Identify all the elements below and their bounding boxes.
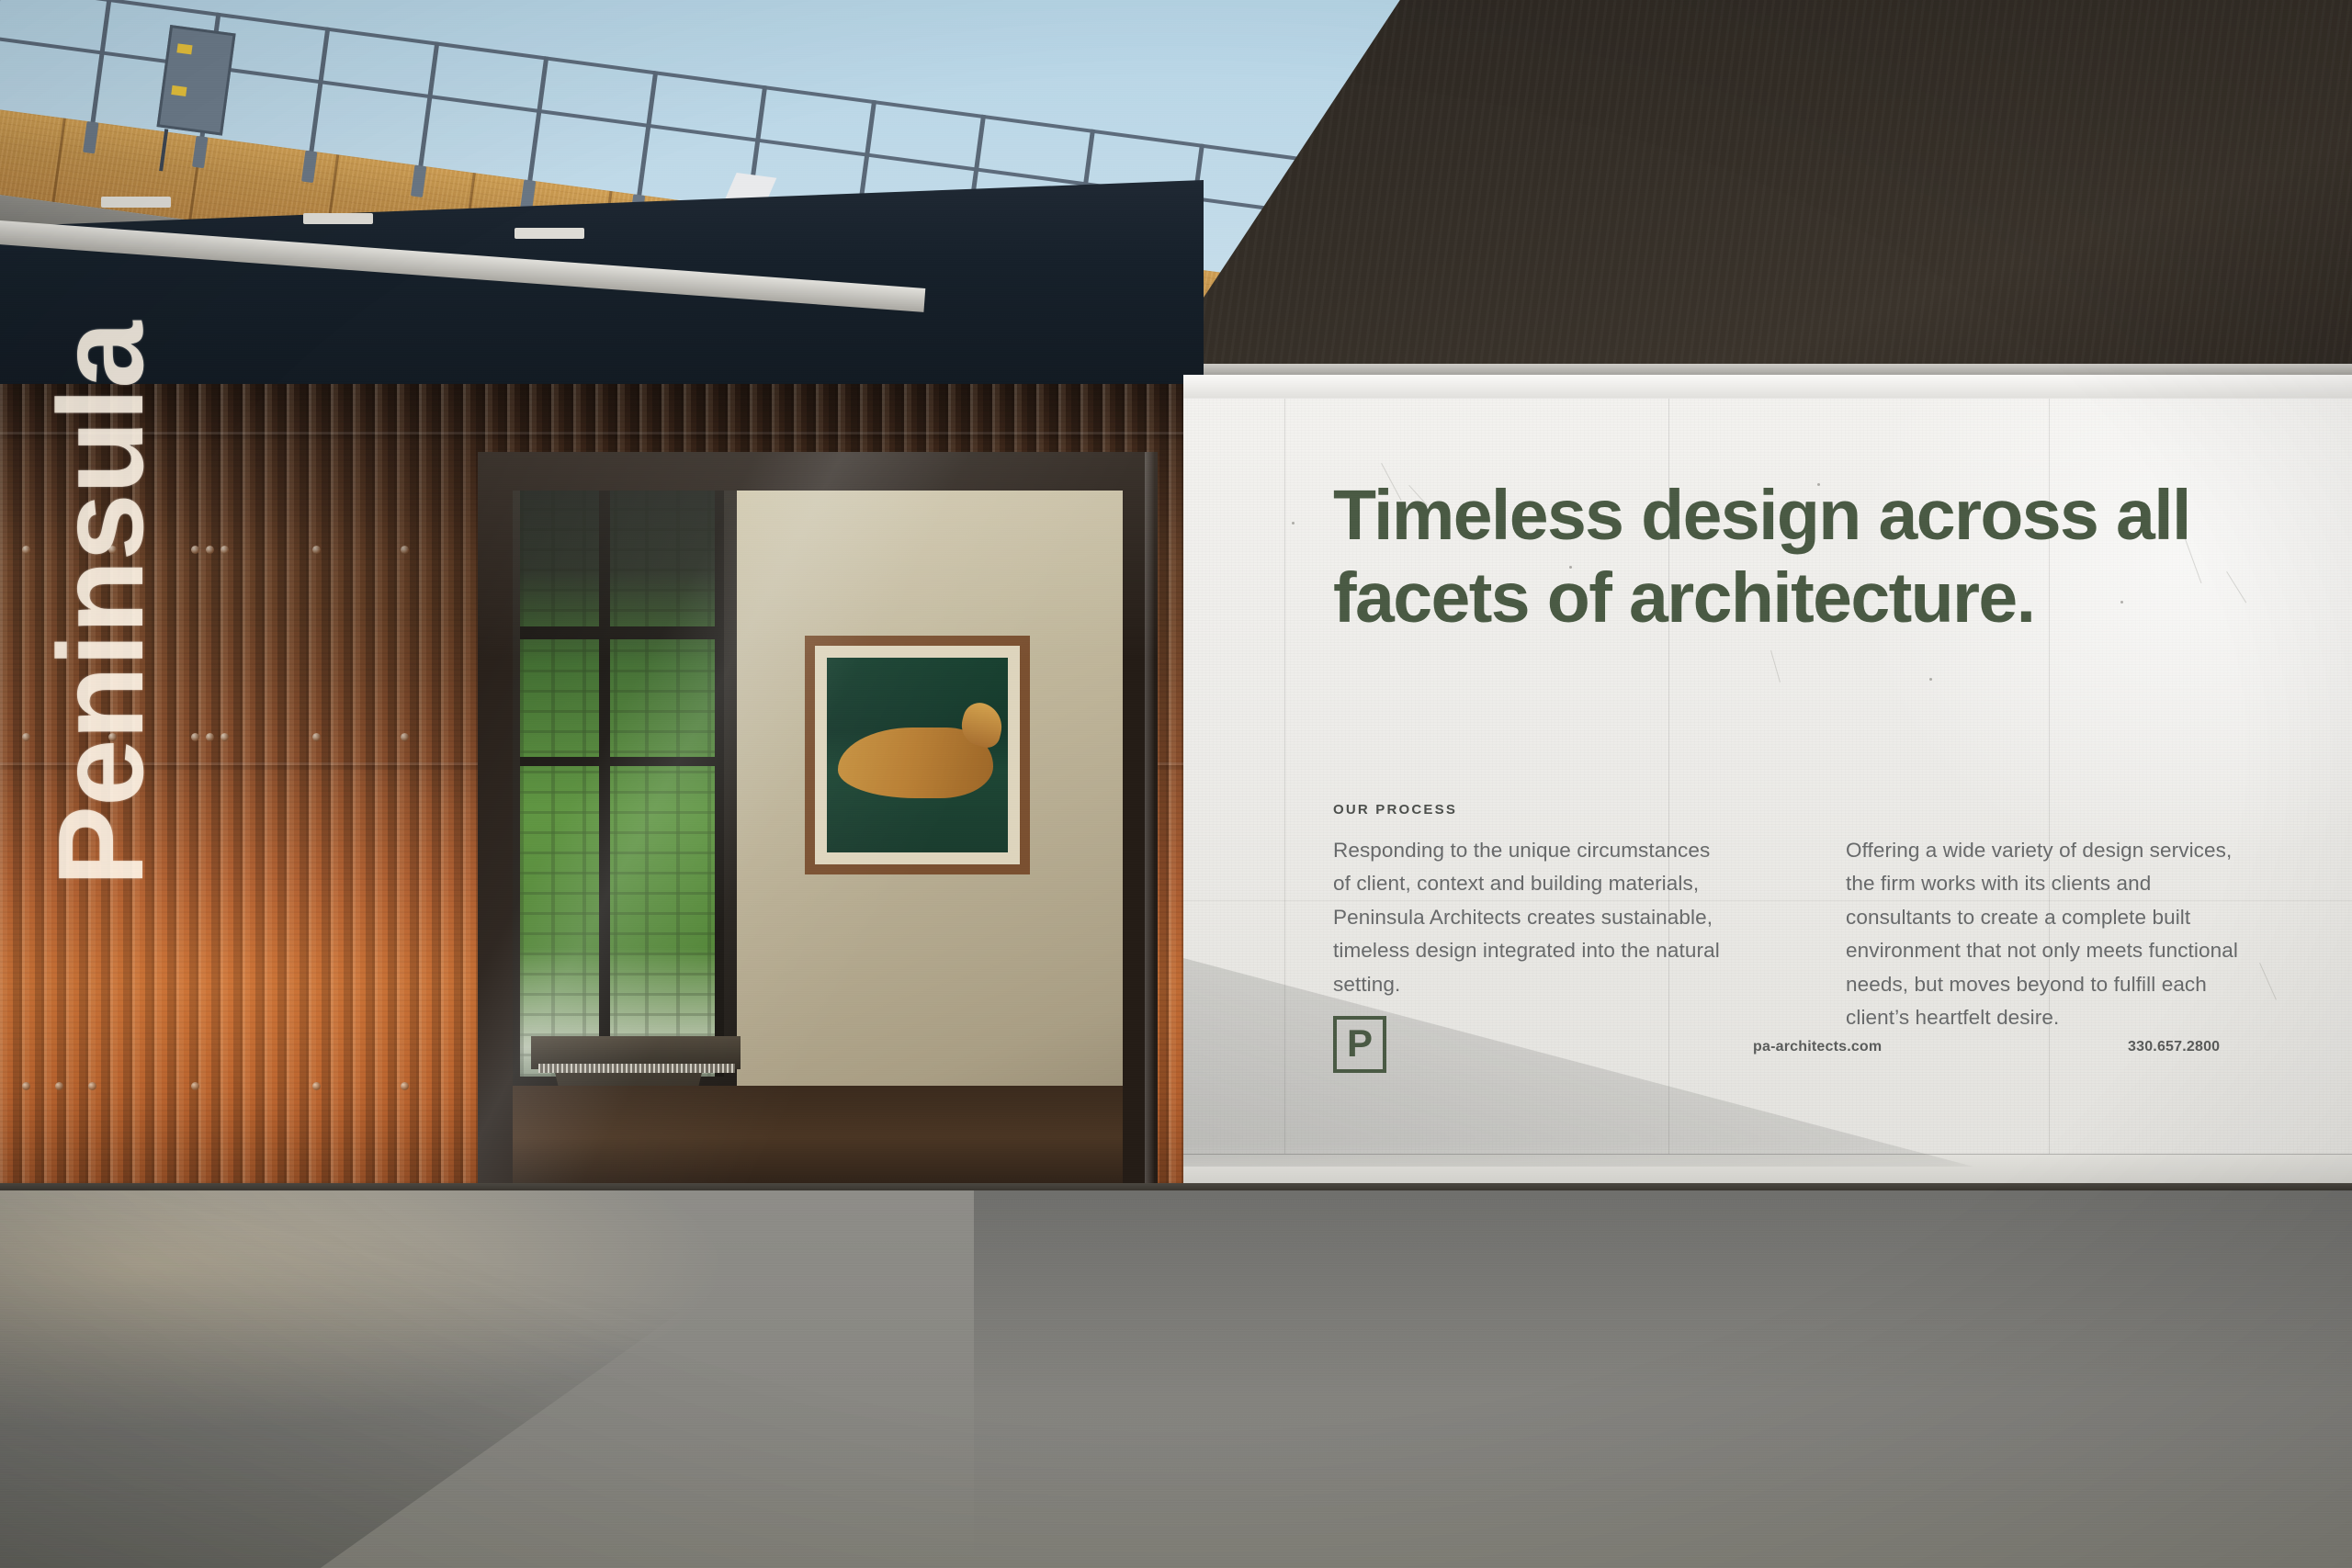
interior-window [520, 489, 722, 1077]
peninsula-logo-mark: P [1333, 1016, 1386, 1073]
artwork-image [827, 658, 1008, 852]
framed-artwork [805, 636, 1030, 874]
building-interior [511, 489, 1125, 1189]
concrete-sign-wall: Timeless design across all facets of arc… [1183, 375, 2352, 1194]
signage-headline: Timeless design across all facets of arc… [1333, 474, 2243, 639]
artwork-animal-figure [838, 728, 993, 797]
paved-ground [0, 1190, 2352, 1568]
glass-entrance-opening [478, 452, 1158, 1196]
signage-column-2: Offering a wide variety of design servic… [1846, 834, 2241, 1035]
ground-texture [0, 1190, 2352, 1568]
phone-text: 330.657.2800 [2128, 1039, 2220, 1055]
ground-far-shadow [974, 1190, 2352, 1568]
environmental-signage-scene: Peninsula Peninsula [0, 0, 2352, 1568]
signage-content: Timeless design across all facets of arc… [1183, 375, 2352, 1194]
interior-floor [511, 1086, 1125, 1189]
website-text: pa-architects.com [1753, 1039, 1882, 1055]
signage-column-1: Responding to the unique circumstances o… [1333, 834, 1728, 1035]
logo-letter: P [1347, 1024, 1373, 1063]
artwork-mat [815, 646, 1020, 864]
signage-kicker: OUR PROCESS [1333, 802, 1457, 818]
ground-cast-shadow [0, 1190, 1029, 1568]
utility-box [156, 25, 235, 136]
signage-columns: Responding to the unique circumstances o… [1333, 834, 2243, 1035]
floor-grille [538, 1064, 735, 1073]
